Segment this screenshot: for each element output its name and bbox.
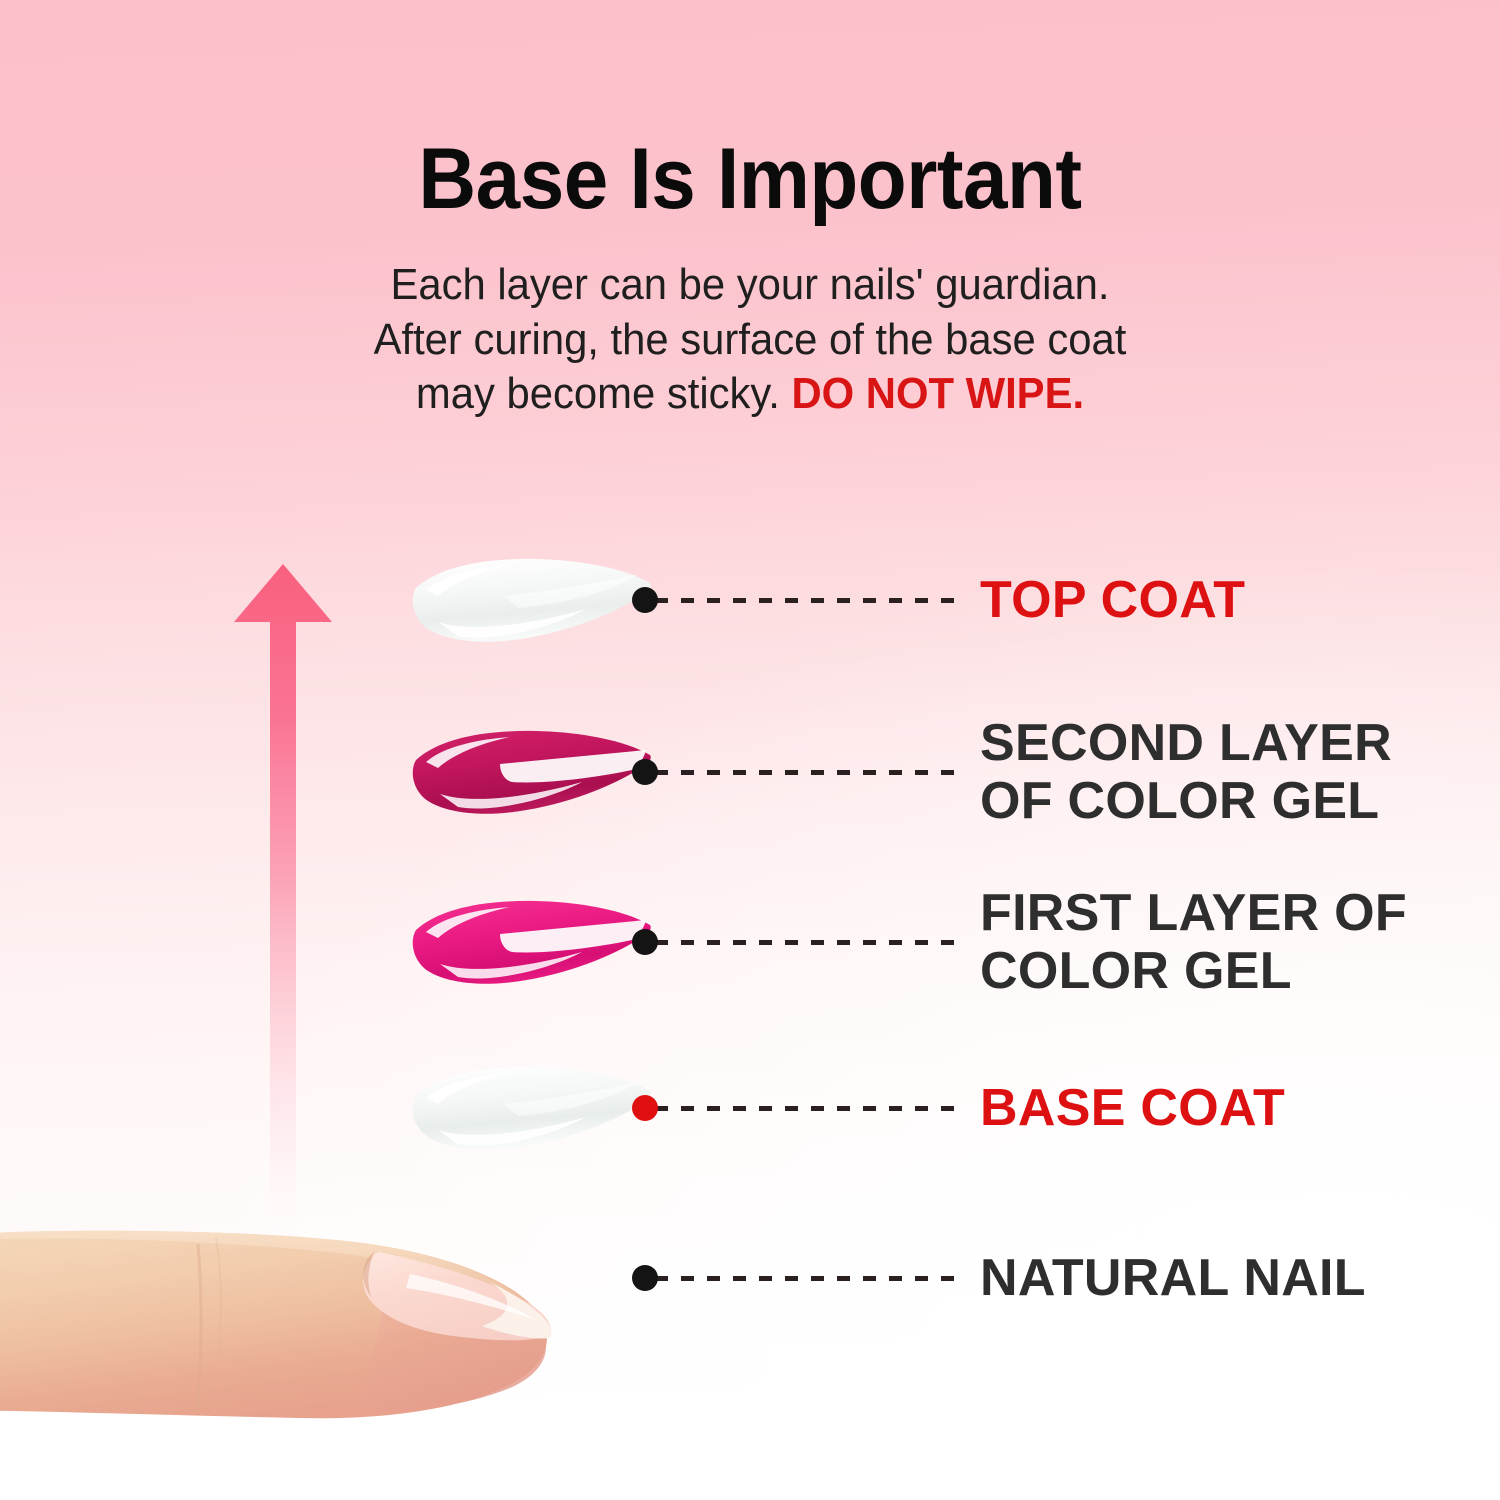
page-subtitle: Each layer can be your nails' guardian. … [38,258,1463,422]
label-natural-nail: NATURAL NAIL [980,1249,1450,1307]
leader-dashes-second-color-gel [655,770,962,775]
leader-dot-natural-nail [632,1265,658,1291]
swatch-top-coat-clear [400,552,660,648]
leader-dot-base-coat [632,1095,658,1121]
leader-dashes-first-color-gel [655,940,962,945]
leader-line-natural-nail [632,1265,962,1291]
leader-dot-second-color-gel [632,759,658,785]
swatch-second-layer-deep-magenta [400,724,660,820]
label-second-color-gel-line2: OF COLOR GEL [980,772,1450,830]
label-first-color-gel-line2: COLOR GEL [980,942,1450,1000]
label-top-coat: TOP COAT [980,571,1450,629]
subtitle-line-3-text: may become sticky. [416,369,792,418]
label-second-color-gel-line1: SECOND LAYER [980,714,1450,772]
leader-dot-first-color-gel [632,929,658,955]
leader-dashes-top-coat [655,598,962,603]
layer-order-arrow-up-icon [218,560,348,1260]
leader-dashes-natural-nail [655,1276,962,1281]
do-not-wipe-warning: DO NOT WIPE. [791,369,1084,418]
label-first-color-gel-line1: FIRST LAYER OF [980,884,1450,942]
swatch-base-coat-clear [400,1060,660,1156]
finger-with-natural-nail-image [0,1222,610,1452]
label-first-color-gel: FIRST LAYER OF COLOR GEL [980,884,1450,1000]
leader-line-base-coat [632,1095,962,1121]
label-second-color-gel: SECOND LAYER OF COLOR GEL [980,714,1450,830]
page-title: Base Is Important [53,136,1448,222]
subtitle-line-1: Each layer can be your nails' guardian. [38,258,1463,313]
swatch-first-layer-hot-pink [400,894,660,990]
header: Base Is Important Each layer can be your… [0,0,1500,422]
leader-line-first-color-gel [632,929,962,955]
leader-line-second-color-gel [632,759,962,785]
poster-canvas: Base Is Important Each layer can be your… [0,0,1500,1500]
subtitle-line-2: After curing, the surface of the base co… [38,313,1463,368]
leader-line-top-coat [632,587,962,613]
leader-dot-top-coat [632,587,658,613]
leader-dashes-base-coat [655,1106,962,1111]
subtitle-line-3: may become sticky. DO NOT WIPE. [38,367,1463,422]
label-base-coat: BASE COAT [980,1079,1450,1137]
